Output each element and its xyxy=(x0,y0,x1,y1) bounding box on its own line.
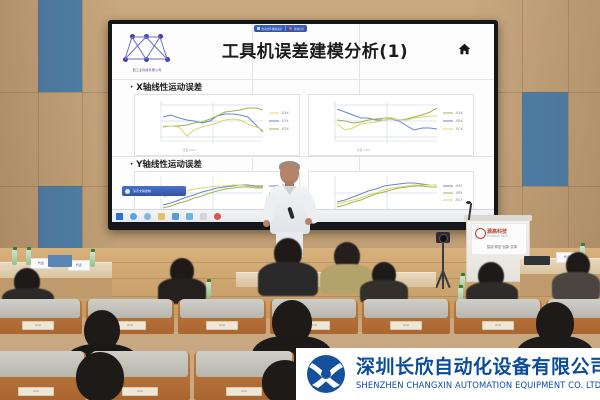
toolbar-record-label: 录制幻灯 xyxy=(294,27,304,31)
presenter-hand-left xyxy=(263,220,270,227)
seat-cushion xyxy=(0,299,80,318)
wall-shade-left xyxy=(0,0,120,290)
toolbar-item-play[interactable]: 启动文件播放演示 xyxy=(257,27,282,31)
store-icon[interactable] xyxy=(186,213,193,220)
lectern-brand-en: YUANGAO TECH xyxy=(487,235,508,238)
lectern-brand-cn: 源高科技 xyxy=(487,228,507,235)
ppt-presentation-toolbar[interactable]: 启动文件播放演示 录制幻灯 xyxy=(254,25,307,32)
auditorium-seat: A12 xyxy=(0,300,82,334)
svg-text:-EAX: -EAX xyxy=(455,111,464,115)
watermark-logo-bar: 深圳长欣自动化设备有限公司 SHENZHEN CHANGXIN AUTOMATI… xyxy=(296,348,600,400)
bottle-cap xyxy=(91,249,95,252)
slide-guide-h1 xyxy=(112,79,494,80)
svg-text:-EZX: -EZX xyxy=(281,127,290,131)
svg-text:位置 (mm): 位置 (mm) xyxy=(357,148,370,152)
presentation-icon xyxy=(125,189,130,194)
lectern-logo-icon xyxy=(475,228,486,239)
seat-number-plate: A12 xyxy=(18,387,54,396)
toolbar-item-record[interactable]: 录制幻灯 xyxy=(289,27,304,31)
seat-cushion xyxy=(456,299,540,318)
logo-network-lines xyxy=(121,29,173,65)
chart-icon xyxy=(257,27,260,30)
seat-number-plate: A12 xyxy=(206,321,238,330)
windows-icon[interactable] xyxy=(116,213,123,220)
lectern-top xyxy=(464,215,532,221)
slide-logo-caption: 西工业科技有限公司 xyxy=(123,68,171,72)
audience-head xyxy=(76,352,124,400)
water-bottle xyxy=(90,252,95,267)
svg-text:-ECX: -ECX xyxy=(455,127,464,131)
auditorium-seat: A12 xyxy=(178,300,266,334)
presentation-badge-label: 演示文稿放映 xyxy=(133,189,151,193)
water-bottle xyxy=(206,282,211,297)
bullet-x-axis: X轴线性运动误差 xyxy=(130,81,202,93)
audience-shoulders xyxy=(258,262,318,296)
bottle-cap xyxy=(459,285,463,288)
seat-cushion xyxy=(180,299,264,318)
bottle-cap xyxy=(581,243,585,246)
seat-number: A12 xyxy=(207,322,237,329)
svg-text:-EBX: -EBX xyxy=(455,119,464,123)
bottle-cap xyxy=(207,279,211,282)
svg-text:-EAY: -EAY xyxy=(455,184,463,188)
browser-icon[interactable] xyxy=(130,213,137,220)
chart-x-linear-error: 误差(μm) -EXX-EYX-EZX 位置 (mm) xyxy=(134,94,300,156)
seat-number: A12 xyxy=(123,388,157,395)
seat-number: A12 xyxy=(23,322,53,329)
seat-number-plate: A12 xyxy=(390,321,422,330)
bottle-cap xyxy=(461,273,465,276)
seat-number-plate: A12 xyxy=(122,387,158,396)
bottle-cap xyxy=(13,247,17,250)
slide-title: 工具机误差建模分析(1) xyxy=(190,37,440,62)
svg-text:-ECY: -ECY xyxy=(455,198,464,202)
chart-x-linear-svg: 误差(μm) -EXX-EYX-EZX 位置 (mm) xyxy=(135,95,299,155)
photo-scene: 西工业科技有限公司 启动文件播放演示 录制幻灯 工具机误差建模分析(1) xyxy=(0,0,600,400)
changxin-logo-icon xyxy=(304,354,348,394)
record-stop-icon[interactable] xyxy=(214,213,221,220)
chart-x-angular-svg: 角度(″) -EAX-EBX-ECX 位置 (mm) xyxy=(309,95,473,155)
svg-text:位置 (mm): 位置 (mm) xyxy=(183,148,196,152)
bullet-y-axis: Y轴线性运动误差 xyxy=(130,158,202,170)
laptop xyxy=(48,255,72,267)
laptop xyxy=(524,256,550,265)
seat-number-plate: A12 xyxy=(482,321,514,330)
edge-icon[interactable] xyxy=(144,213,151,220)
toolbar-play-label: 启动文件播放演示 xyxy=(262,27,283,31)
seat-number-plate: A12 xyxy=(226,387,262,396)
tripod-pole xyxy=(442,243,444,273)
presenter-hand-right xyxy=(305,218,312,225)
toolbar-divider xyxy=(285,26,286,31)
auditorium-seat: A12 xyxy=(454,300,542,334)
camera-lens-icon xyxy=(439,234,448,243)
presentation-mode-badge[interactable]: 演示文稿放映 xyxy=(122,186,186,196)
record-icon xyxy=(289,27,292,30)
seat-number-plate: A12 xyxy=(22,321,54,330)
seat-number: A12 xyxy=(391,322,421,329)
lectern-mic-head xyxy=(466,201,471,204)
seat-number: A12 xyxy=(19,388,53,395)
seat-cushion xyxy=(364,299,448,318)
chart-x-angular-error: 角度(″) -EAX-EBX-ECX 位置 (mm) xyxy=(308,94,474,156)
audience-shoulders xyxy=(552,272,600,300)
svg-text:-EBY: -EBY xyxy=(455,191,463,195)
lectern-sign: 源高科技 YUANGAO TECH 智能·精密·创新·变革 xyxy=(471,223,527,255)
watermark-text-block: 深圳长欣自动化设备有限公司 SHENZHEN CHANGXIN AUTOMATI… xyxy=(356,358,600,390)
slide-company-logo: 西工业科技有限公司 xyxy=(121,29,173,75)
svg-text:-EYX: -EYX xyxy=(281,119,289,123)
seat-number: A12 xyxy=(227,388,261,395)
home-icon[interactable] xyxy=(457,41,472,55)
seat-number: A12 xyxy=(483,322,513,329)
media-icon[interactable] xyxy=(200,213,207,220)
auditorium-seat: A12 xyxy=(362,300,450,334)
tripod-leg xyxy=(442,271,444,289)
namecard-text: 代表 xyxy=(69,263,89,267)
auditorium-seat: A12 xyxy=(0,352,86,400)
watermark-company-en: SHENZHEN CHANGXIN AUTOMATION EQUIPMENT C… xyxy=(356,380,600,390)
mail-icon[interactable] xyxy=(172,213,179,220)
folder-icon[interactable] xyxy=(158,213,165,220)
watermark-company-cn: 深圳长欣自动化设备有限公司 xyxy=(356,358,600,378)
seat-cushion xyxy=(0,351,84,377)
svg-text:-EXX: -EXX xyxy=(281,111,290,115)
bottle-cap xyxy=(27,247,31,250)
water-bottle xyxy=(26,250,31,265)
lectern-slogan: 智能·精密·创新·变革 xyxy=(476,244,528,249)
water-bottle xyxy=(12,250,17,265)
slide-guide-h2 xyxy=(112,156,494,157)
